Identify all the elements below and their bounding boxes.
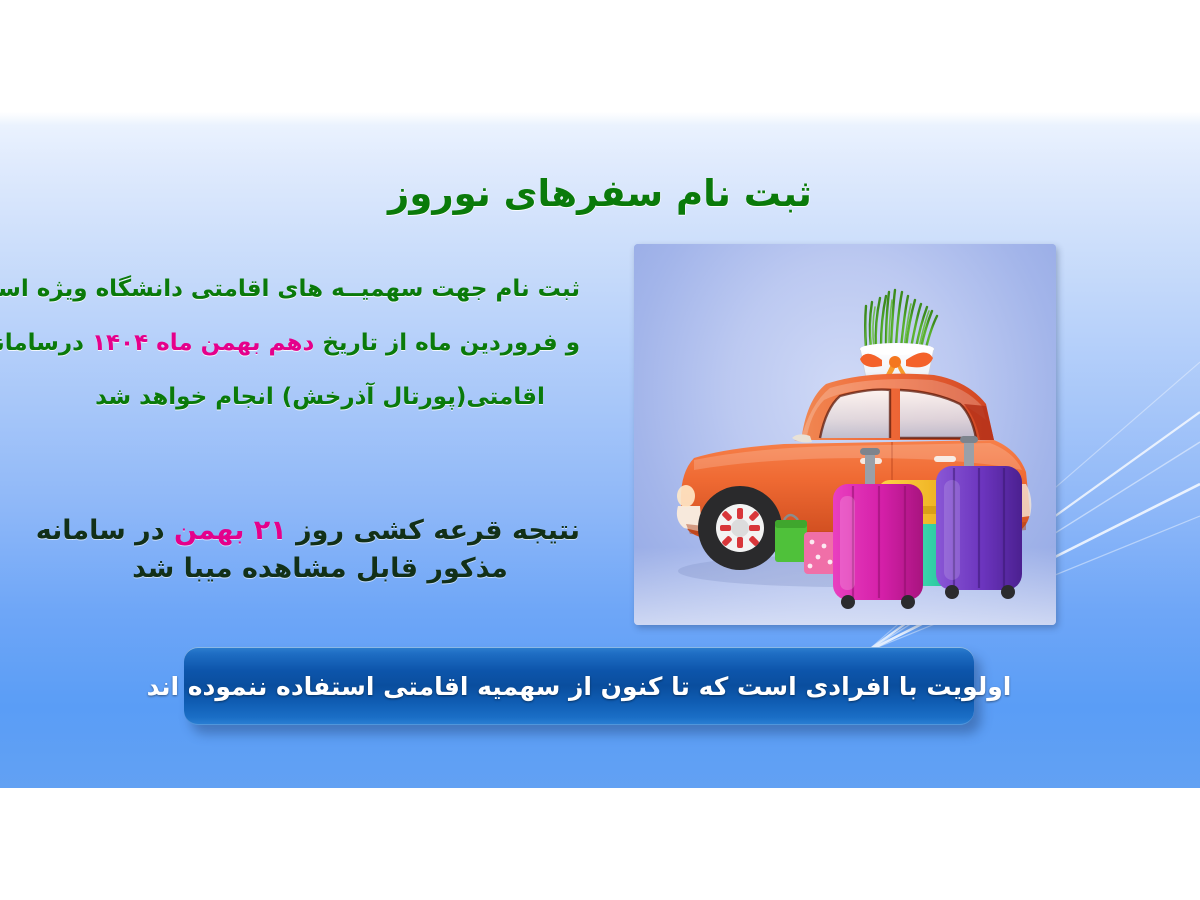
car-with-sabzeh-illustration xyxy=(634,244,1056,625)
lottery-line-1: نتیجه قرعه کشی روز ۲۱ بهمن در سامانه xyxy=(60,512,580,550)
priority-notice-text: اولویت با افرادی است که تا کنون از سهمیه… xyxy=(147,672,1012,701)
intro-line-2-prefix: و فروردین ماه از تاریخ xyxy=(314,330,580,356)
lottery-paragraph: نتیجه قرعه کشی روز ۲۱ بهمن در سامانه مذک… xyxy=(60,512,580,588)
lottery-line-1-prefix: نتیجه قرعه کشی روز xyxy=(287,515,580,546)
lottery-line-2: مذکور قابل مشاهده میبا شد xyxy=(60,550,580,588)
intro-line-3: اقامتی(پورتال آذرخش) انجام خواهد شد xyxy=(60,370,580,424)
travel-photo xyxy=(634,244,1056,625)
registration-date-highlight: دهم بهمن ماه ۱۴۰۴ xyxy=(92,330,314,356)
intro-line-2: و فروردین ماه از تاریخ دهم بهمن ماه ۱۴۰۴… xyxy=(60,316,580,370)
intro-line-1: ثبت نام جهت سهمیــه های اقامتی دانشگاه و… xyxy=(60,262,580,316)
priority-notice-banner[interactable]: اولویت با افرادی است که تا کنون از سهمیه… xyxy=(184,647,974,725)
sabzeh-grass xyxy=(865,290,937,348)
front-wheel xyxy=(698,486,782,570)
pink-dotted-bag xyxy=(804,532,836,574)
lottery-line-1-suffix: در سامانه xyxy=(36,515,174,546)
page-title: ثبت نام سفرهای نوروز xyxy=(0,172,1200,215)
lottery-date-highlight: ۲۱ بهمن xyxy=(174,515,287,546)
intro-paragraph: ثبت نام جهت سهمیــه های اقامتی دانشگاه و… xyxy=(60,262,580,424)
nowruz-trip-registration-poster: ثبت نام سفرهای نوروز ثبت نام جهت سهمیــه… xyxy=(0,0,1200,900)
intro-line-2-suffix: درسامانه xyxy=(0,330,92,356)
green-handbag xyxy=(775,515,807,562)
